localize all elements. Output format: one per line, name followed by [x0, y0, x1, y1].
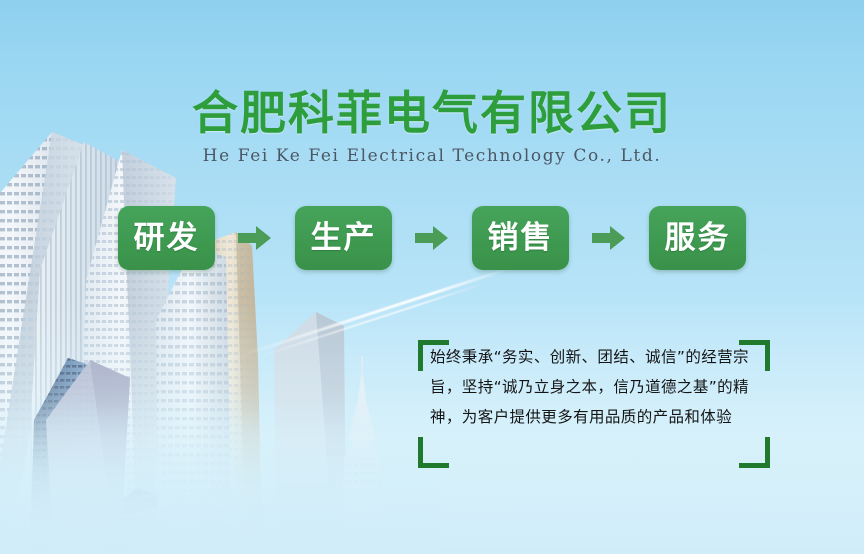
- process-step-production[interactable]: 生产: [295, 206, 392, 270]
- company-name-chinese: 合肥科菲电气有限公司: [0, 88, 864, 140]
- process-flow: 研发 生产 销售 服务: [118, 206, 746, 270]
- process-step-label: 研发: [134, 223, 200, 254]
- city-fade-overlay: [0, 404, 440, 554]
- page-title-block: 合肥科菲电气有限公司 He Fei Ke Fei Electrical Tech…: [0, 88, 864, 166]
- process-step-label: 服务: [665, 223, 731, 254]
- process-step-label: 销售: [488, 223, 554, 254]
- process-step-sales[interactable]: 销售: [472, 206, 569, 270]
- arrow-right-icon: [569, 225, 649, 251]
- company-hero-banner: 合肥科菲电气有限公司 He Fei Ke Fei Electrical Tech…: [0, 0, 864, 554]
- motto-text: 始终秉承“务实、创新、团结、诚信”的经营宗旨，坚持“诚乃立身之本，信乃道德之基”…: [430, 342, 766, 432]
- company-name-english: He Fei Ke Fei Electrical Technology Co.,…: [0, 146, 864, 166]
- bracket-corner-bottom-right: [739, 437, 770, 468]
- bracket-corner-bottom-left: [418, 437, 449, 468]
- process-step-label: 生产: [311, 223, 377, 254]
- city-skyline-image: [0, 120, 440, 554]
- arrow-right-icon: [392, 225, 472, 251]
- arrow-right-icon: [215, 225, 295, 251]
- process-step-service[interactable]: 服务: [649, 206, 746, 270]
- process-step-rd[interactable]: 研发: [118, 206, 215, 270]
- motto-block: 始终秉承“务实、创新、团结、诚信”的经营宗旨，坚持“诚乃立身之本，信乃道德之基”…: [418, 340, 770, 468]
